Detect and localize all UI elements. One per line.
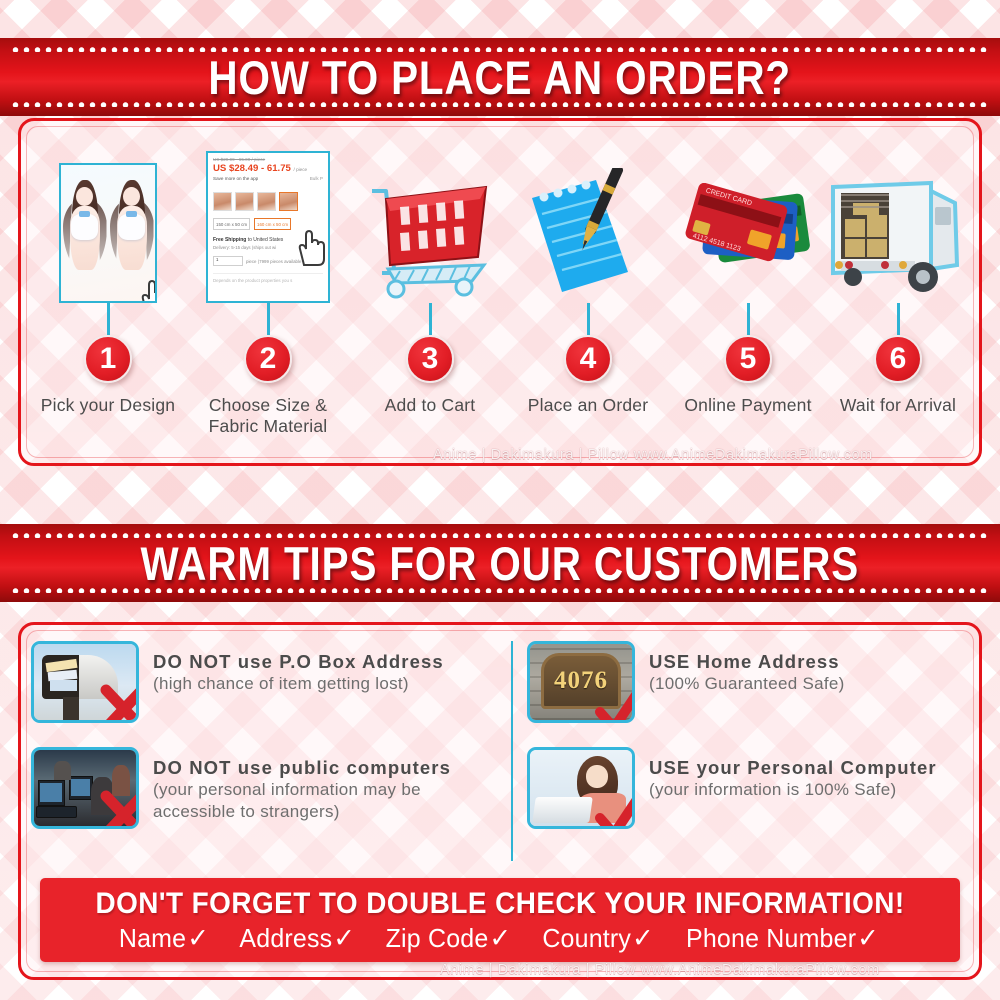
- tip-public-computers: DO NOT use public computers (your person…: [31, 747, 501, 829]
- check-items: Name✓ Address✓ Zip Code✓ Country✓ Phone …: [117, 923, 884, 954]
- tip-text: DO NOT use P.O Box Address (high chance …: [153, 641, 444, 695]
- cursor-hand-icon: [139, 279, 157, 303]
- pillow-design-image[interactable]: [59, 163, 157, 303]
- step-4-artwork: [513, 135, 663, 303]
- step-5-label: Online Payment: [684, 395, 811, 416]
- red-check-icon: [592, 682, 635, 723]
- header-banner: HOW TO PLACE AN ORDER?: [0, 38, 1000, 116]
- tip-subtext-line2: accessible to strangers): [153, 801, 451, 823]
- step-5-artwork: 4112 4518 1123 CREDIT CARD 4112 4518 112…: [673, 135, 823, 303]
- listing-price: US $28.49 - 61.75 / piece: [213, 163, 323, 174]
- credit-card-icon: 4112 4518 1123 CREDIT CARD 4112 4518 112…: [673, 183, 823, 303]
- tip-po-box: DO NOT use P.O Box Address (high chance …: [31, 641, 501, 723]
- anime-character-left: [61, 165, 108, 301]
- listing-thumbnail[interactable]: [257, 192, 276, 211]
- tip-text: USE your Personal Computer (your informa…: [649, 747, 937, 801]
- step-4-connector: [587, 303, 590, 335]
- listing-price-value: US $28.49 - 61.75: [213, 163, 291, 174]
- check-item-label: Zip Code: [386, 923, 489, 953]
- check-tick-icon: ✓: [187, 923, 209, 953]
- check-item-label: Address: [239, 923, 332, 953]
- product-listing-screenshot[interactable]: US $29.99 - 65.00 / piece US $28.49 - 61…: [206, 151, 330, 303]
- step-1-connector: [107, 303, 110, 335]
- watermark-bottom: Anime | Dakimakura | Pillow www.AnimeDak…: [440, 962, 880, 978]
- house-number-plaque-photo: 4076: [527, 641, 635, 723]
- listing-shipping-destination: to United States: [248, 237, 284, 243]
- step-6-label: Wait for Arrival: [840, 395, 956, 416]
- tip-text: USE Home Address (100% Guaranteed Safe): [649, 641, 845, 695]
- red-cross-icon: [96, 682, 139, 723]
- public-computers-photo: [31, 747, 139, 829]
- listing-thumbnail[interactable]: [213, 192, 232, 211]
- tips-column-donot: DO NOT use P.O Box Address (high chance …: [31, 641, 501, 847]
- check-item-label: Phone Number: [686, 923, 856, 953]
- listing-thumbnails[interactable]: [213, 192, 323, 211]
- listing-size-option[interactable]: 150 cm x 50 cm: [213, 218, 250, 230]
- tips-banner: WARM TIPS FOR OUR CUSTOMERS: [0, 524, 1000, 602]
- step-3-number: 3: [406, 335, 454, 383]
- step-6-connector: [897, 303, 900, 335]
- listing-note: Depends on the product properties you s: [213, 273, 323, 283]
- step-6: 6 Wait for Arrival: [819, 135, 977, 453]
- step-2: US $29.99 - 65.00 / piece US $28.49 - 61…: [189, 135, 347, 453]
- tip-personal-computer: USE your Personal Computer (your informa…: [527, 747, 981, 829]
- step-6-artwork: [823, 135, 973, 303]
- cursor-hand-icon: [296, 229, 326, 267]
- check-item-phone-number: Phone Number✓: [686, 923, 879, 954]
- step-6-number: 6: [874, 335, 922, 383]
- listing-old-price: US $29.99 - 65.00 / piece: [213, 157, 323, 162]
- listing-quantity-input[interactable]: 1: [213, 256, 243, 266]
- check-tick-icon: ✓: [490, 923, 512, 953]
- step-2-label: Choose Size & Fabric Material: [209, 395, 328, 438]
- step-1: 1 Pick your Design: [29, 135, 187, 453]
- step-3-connector: [429, 303, 432, 335]
- step-5: 4112 4518 1123 CREDIT CARD 4112 4518 112…: [669, 135, 827, 453]
- listing-app-row[interactable]: Save more on the app Bulk P: [213, 176, 323, 181]
- tip-subtext-line1: (your personal information may be: [153, 779, 451, 801]
- tip-text: DO NOT use public computers (your person…: [153, 747, 451, 823]
- tips-title: WARM TIPS FOR OUR CUSTOMERS: [141, 536, 860, 591]
- check-item-zip-code: Zip Code✓: [386, 923, 512, 954]
- check-item-country: Country✓: [542, 923, 654, 954]
- listing-free-shipping-label: Free Shipping: [213, 237, 246, 243]
- listing-quantity-available: piece (7999 pieces available: [246, 259, 301, 264]
- step-4-number: 4: [564, 335, 612, 383]
- watermark-steps: Anime | Dakimakura | Pillow www.AnimeDak…: [433, 447, 873, 463]
- tips-column-use: 4076 USE Home Address (100% Guaranteed S…: [511, 641, 981, 861]
- listing-app-save-label: Save more on the app: [213, 176, 258, 181]
- step-1-number: 1: [84, 335, 132, 383]
- notepad-icon: [518, 168, 658, 303]
- red-check-icon: [592, 788, 635, 829]
- red-cross-icon: [96, 788, 139, 829]
- check-item-label: Name: [118, 923, 185, 953]
- double-check-box: DON'T FORGET TO DOUBLE CHECK YOUR INFORM…: [40, 878, 960, 962]
- tip-heading: USE Home Address: [649, 651, 845, 673]
- listing-price-unit: / piece: [294, 167, 308, 172]
- step-1-artwork: [33, 135, 183, 303]
- tip-subtext: (high chance of item getting lost): [153, 673, 444, 695]
- listing-size-option-selected[interactable]: 160 cm x 50 cm: [254, 218, 291, 230]
- check-tick-icon: ✓: [333, 923, 355, 953]
- check-tick-icon: ✓: [858, 923, 880, 953]
- step-4: 4 Place an Order: [509, 135, 667, 453]
- check-item-label: Country: [542, 923, 631, 953]
- check-tick-icon: ✓: [632, 923, 654, 953]
- truck-icon: [823, 173, 973, 303]
- step-3: 3 Add to Cart: [351, 135, 509, 453]
- step-2-connector: [267, 303, 270, 335]
- check-item-name: Name✓: [118, 923, 208, 954]
- step-2-number: 2: [244, 335, 292, 383]
- step-1-label: Pick your Design: [41, 395, 176, 416]
- tip-home-address: 4076 USE Home Address (100% Guaranteed S…: [527, 641, 981, 723]
- listing-bulk-label: Bulk P: [310, 176, 323, 181]
- tip-subtext: (100% Guaranteed Safe): [649, 673, 845, 695]
- tip-heading: DO NOT use P.O Box Address: [153, 651, 444, 673]
- step-5-number: 5: [724, 335, 772, 383]
- tip-subtext: (your information is 100% Safe): [649, 779, 937, 801]
- shopping-cart-icon: [360, 173, 500, 303]
- listing-thumbnail-selected[interactable]: [279, 192, 298, 211]
- listing-thumbnail[interactable]: [235, 192, 254, 211]
- mailbox-photo: [31, 641, 139, 723]
- double-check-title: DON'T FORGET TO DOUBLE CHECK YOUR INFORM…: [95, 887, 904, 921]
- step-5-connector: [747, 303, 750, 335]
- step-2-artwork: US $29.99 - 65.00 / piece US $28.49 - 61…: [193, 135, 343, 303]
- steps-panel: 1 Pick your Design US $29.99 - 65.00 / p…: [18, 118, 982, 466]
- page-title: HOW TO PLACE AN ORDER?: [209, 50, 792, 105]
- woman-with-laptop-photo: [527, 747, 635, 829]
- step-4-label: Place an Order: [528, 395, 649, 416]
- step-3-label: Add to Cart: [385, 395, 476, 416]
- check-item-address: Address✓: [239, 923, 355, 954]
- tip-heading: USE your Personal Computer: [649, 757, 937, 779]
- tip-heading: DO NOT use public computers: [153, 757, 451, 779]
- step-3-artwork: [355, 135, 505, 303]
